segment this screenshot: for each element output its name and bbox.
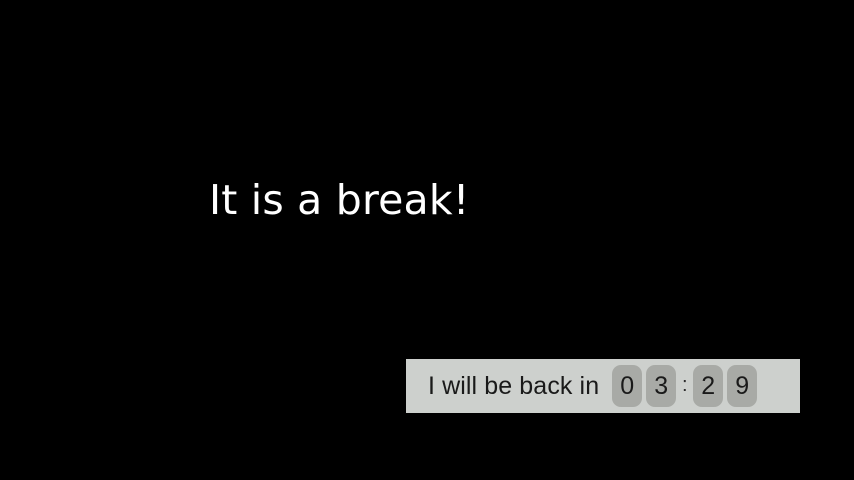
countdown-separator: : — [680, 375, 689, 395]
countdown-timer: 0 3 : 2 9 — [612, 365, 757, 407]
countdown-bar: I will be back in 0 3 : 2 9 — [406, 359, 800, 413]
break-screen: It is a break! I will be back in 0 3 : 2… — [0, 0, 854, 480]
countdown-digit-minutes-tens: 0 — [612, 365, 642, 407]
countdown-label: I will be back in — [428, 372, 599, 400]
countdown-digit-seconds-ones: 9 — [727, 365, 757, 407]
countdown-digit-seconds-tens: 2 — [693, 365, 723, 407]
page-title: It is a break! — [209, 174, 469, 226]
countdown-digit-minutes-ones: 3 — [646, 365, 676, 407]
